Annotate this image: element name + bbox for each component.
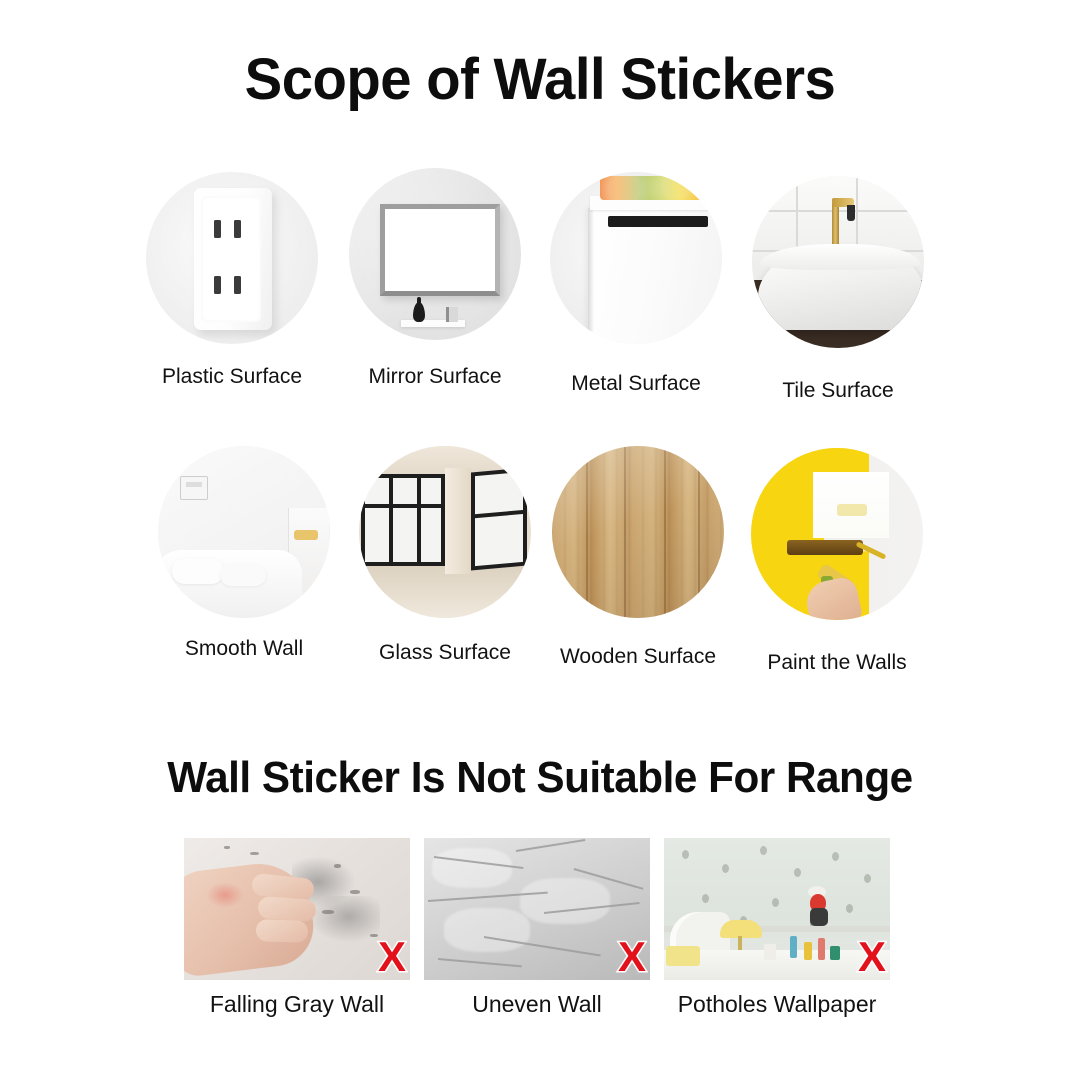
surface-label-paint-the-walls: Paint the Walls	[721, 650, 953, 676]
unsuitable-card-falling-gray-wall: X Falling Gray Wall	[184, 838, 410, 980]
surface-card-smooth-wall: Smooth Wall	[154, 446, 334, 618]
surface-image-paint-the-walls	[751, 448, 923, 620]
surface-label-plastic-surface: Plastic Surface	[116, 364, 348, 390]
unsuitable-image-falling-gray-wall: X	[184, 838, 410, 980]
surface-image-metal-surface	[550, 172, 722, 344]
unsuitable-card-potholes-wallpaper: X Potholes Wallpaper	[664, 838, 890, 980]
surface-label-tile-surface: Tile Surface	[722, 378, 954, 404]
surface-image-wooden-surface	[552, 446, 724, 618]
surface-image-mirror-surface	[349, 168, 521, 340]
surface-card-wooden: Wooden Surface	[548, 446, 728, 618]
reject-x-icon: X	[618, 936, 646, 978]
section-title-not-suitable: Wall Sticker Is Not Suitable For Range	[22, 752, 1059, 804]
infographic-page: Scope of Wall Stickers Plastic Surface M…	[0, 0, 1080, 1080]
unsuitable-image-potholes-wallpaper: X	[664, 838, 890, 980]
surface-card-paint: Paint the Walls	[747, 448, 927, 620]
page-title-scope: Scope of Wall Stickers	[16, 48, 1064, 112]
unsuitable-image-uneven-wall: X	[424, 838, 650, 980]
unsuitable-card-uneven-wall: X Uneven Wall	[424, 838, 650, 980]
surface-card-glass: Glass Surface	[355, 446, 535, 618]
reject-x-icon: X	[858, 936, 886, 978]
surface-card-tile: Tile Surface	[748, 176, 928, 348]
surface-label-smooth-wall: Smooth Wall	[128, 636, 360, 662]
surface-card-mirror: Mirror Surface	[345, 168, 525, 340]
surface-image-glass-surface	[359, 446, 531, 618]
surface-image-smooth-wall	[158, 446, 330, 618]
surface-label-mirror-surface: Mirror Surface	[319, 364, 551, 390]
surface-card-plastic: Plastic Surface	[142, 172, 322, 344]
surface-card-metal: Metal Surface	[546, 172, 726, 344]
surface-image-tile-surface	[752, 176, 924, 348]
surface-image-plastic-surface	[146, 172, 318, 344]
surface-label-metal-surface: Metal Surface	[520, 371, 752, 397]
unsuitable-label-potholes-wallpaper: Potholes Wallpaper	[634, 990, 920, 1018]
reject-x-icon: X	[378, 936, 406, 978]
surface-label-wooden-surface: Wooden Surface	[522, 644, 754, 670]
